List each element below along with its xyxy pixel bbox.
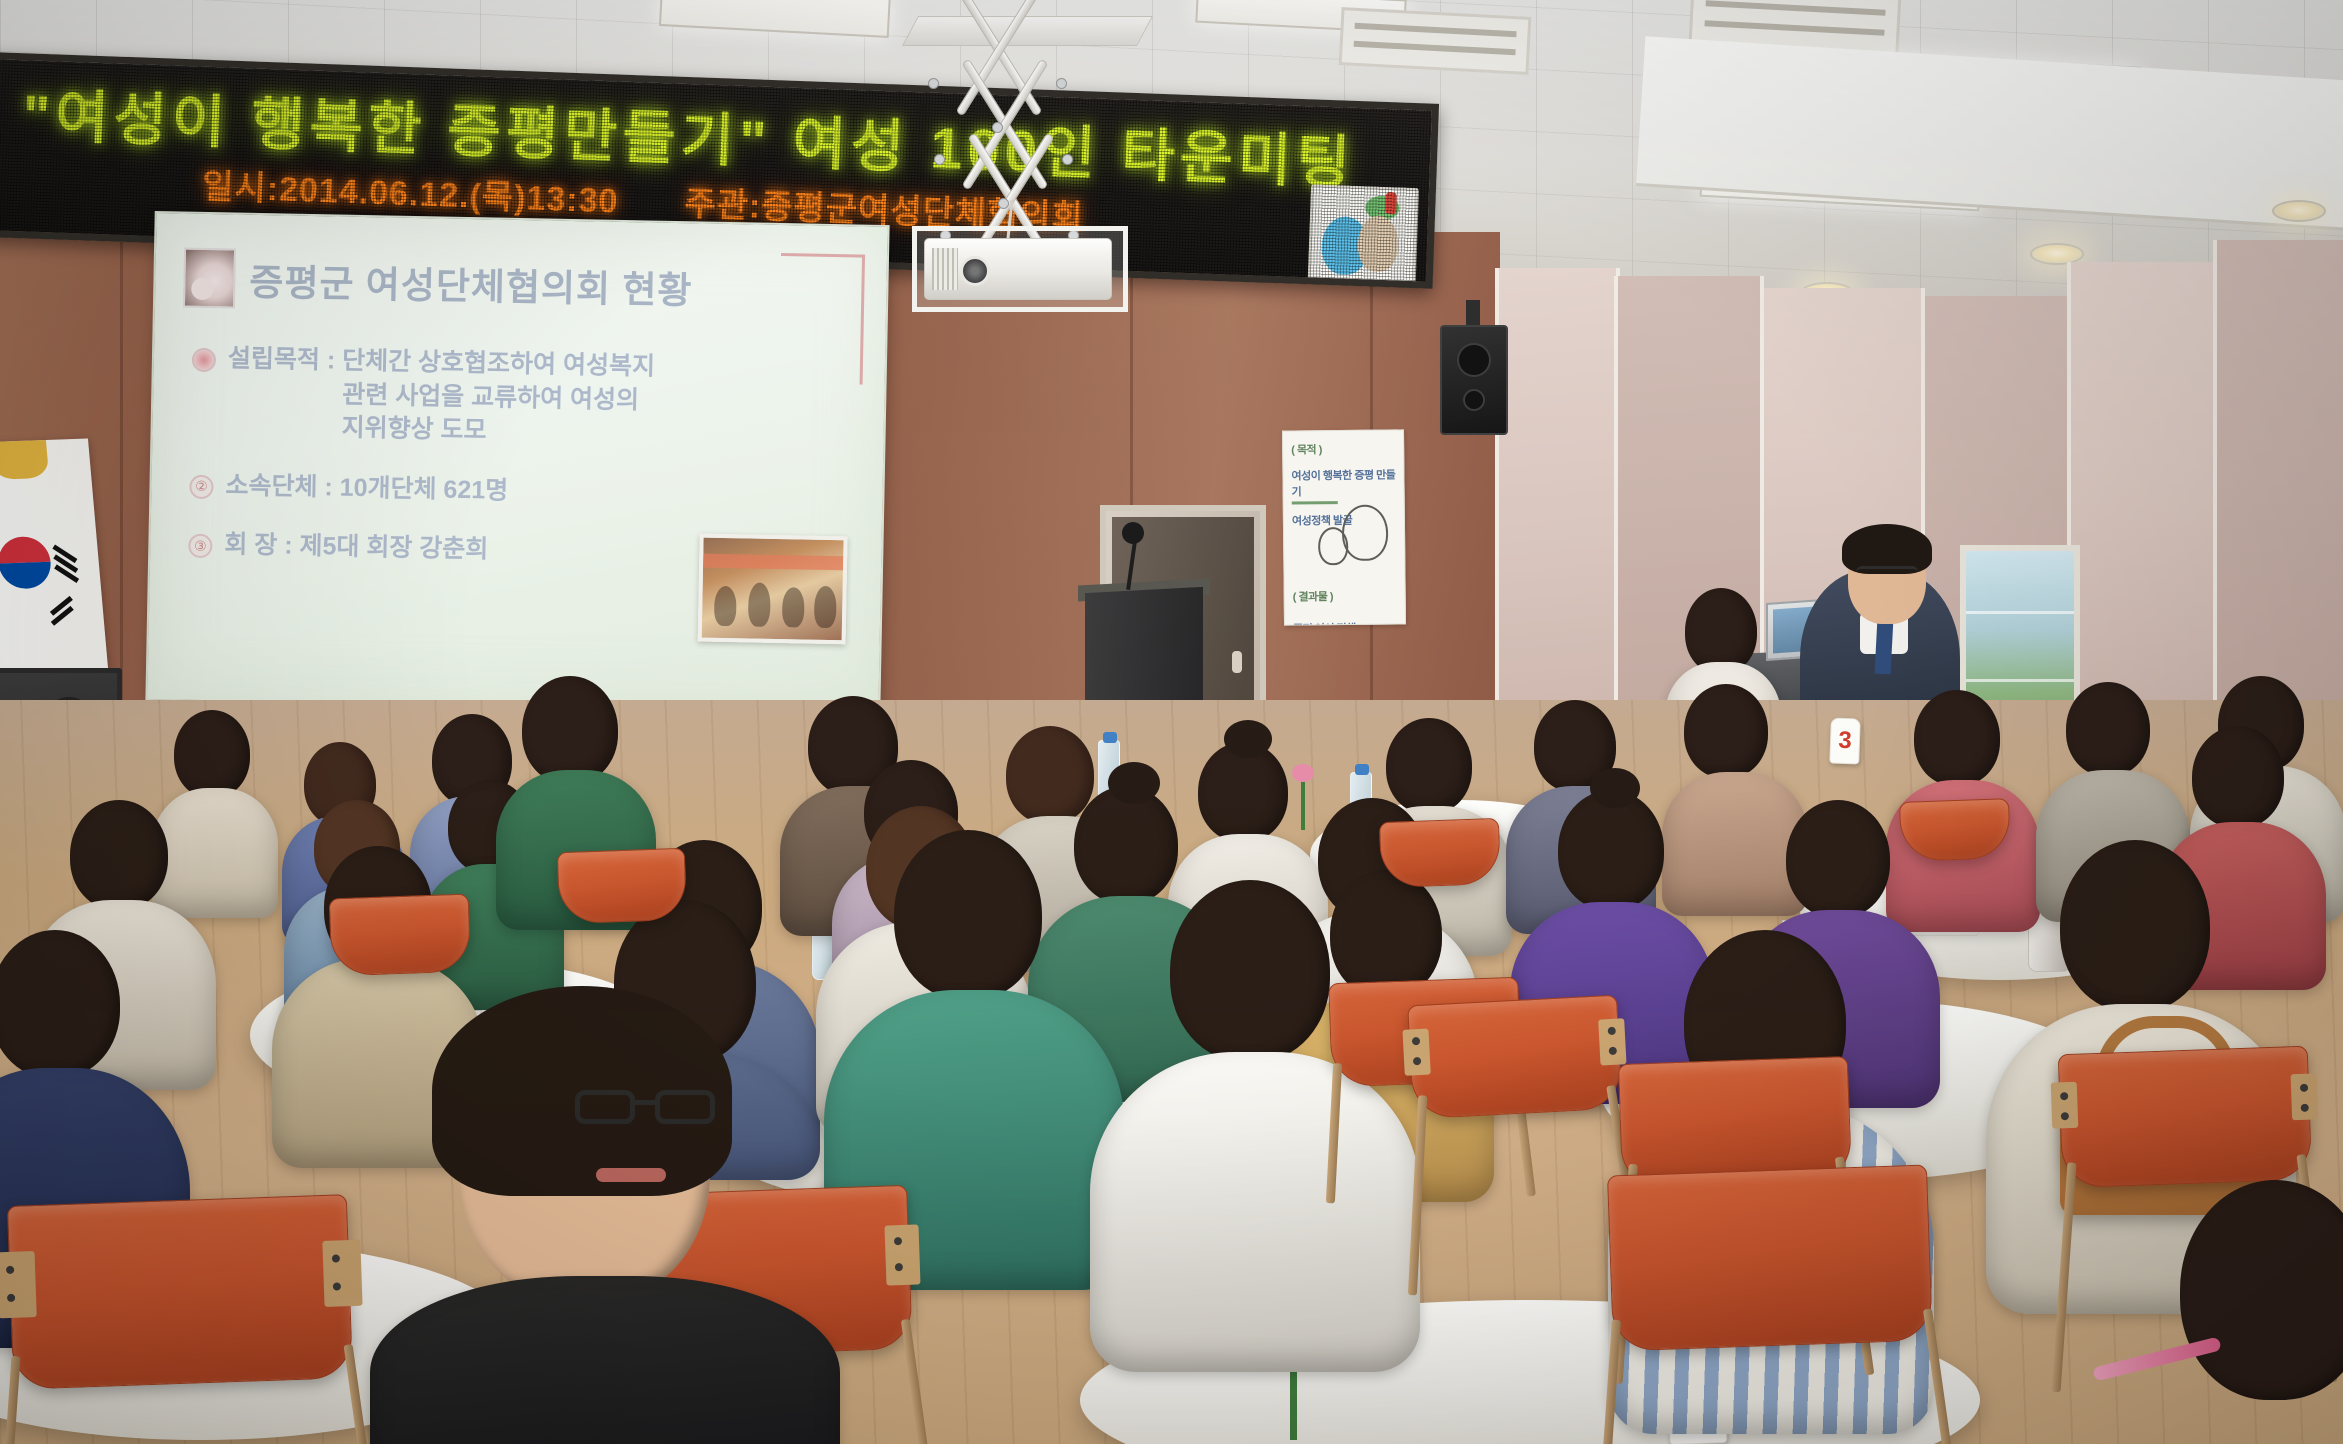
ceiling-projector-lift: [890, 0, 1190, 334]
slide-bullet-line: 설립목적 : 단체간 상호협조하여 여성복지: [228, 344, 656, 380]
slide-bullet-marker: ③: [188, 534, 212, 558]
slide-bullet-text: 설립목적 : 단체간 상호협조하여 여성복지 관련 사업을 교류하여 여성의 지…: [226, 342, 655, 451]
pa-speaker: [1440, 325, 1508, 435]
lift-ceiling-plate: [902, 16, 1153, 46]
chair[interactable]: [1379, 818, 1501, 888]
slide-bullet-item: ② 소속단체 : 10개단체 621명: [189, 468, 855, 514]
eyeglasses-icon: [575, 1090, 715, 1126]
poster-face-sketch: [1318, 527, 1348, 565]
poster-face-sketch: [1342, 505, 1389, 561]
slide-bullet-text: 회 장 : 제5대 회장 강춘희: [224, 528, 489, 567]
poster-heading: ( 결과물 ): [1293, 587, 1397, 604]
slide-decor-thumbnail: [183, 248, 236, 309]
slide-bullet-marker: [192, 348, 216, 372]
photo-scene: "여성이 행복한 증평만들기" 여성 100인 타운미팅 일시:2014.06.…: [0, 0, 2343, 1444]
chair[interactable]: [1899, 798, 2011, 862]
wall-partition-panel: [2213, 240, 2343, 720]
wall-partition-panel: [1495, 268, 1620, 748]
slide-title: 증평군 여성단체협의회 현황: [249, 252, 693, 314]
wall-poster: ( 목적 ) 여성이 행복한 증평 만들기 여성정책 발굴 ( 결과물 ) 증평…: [1282, 429, 1406, 625]
wall-partition-panel: [2067, 262, 2217, 732]
chair[interactable]: [1407, 995, 1623, 1120]
slide-bullet-marker: ②: [189, 474, 213, 498]
projector-lens: [960, 256, 990, 286]
mascot-logo: [1308, 184, 1419, 286]
eyeglasses-icon: [1856, 566, 1918, 581]
door-handle[interactable]: [1232, 651, 1242, 673]
slide-bullet-item: 설립목적 : 단체간 상호협조하여 여성복지 관련 사업을 교류하여 여성의 지…: [190, 342, 857, 455]
presenter-tie: [1875, 618, 1894, 675]
projector-vent: [932, 248, 958, 290]
microphone: [1122, 522, 1144, 544]
chair[interactable]: [329, 894, 472, 977]
poster-line: 여성이 행복한 증평 만들기: [1291, 466, 1395, 499]
speaker-mount: [1466, 300, 1480, 328]
chair[interactable]: [7, 1194, 353, 1390]
chair[interactable]: [1607, 1164, 1933, 1351]
ceiling-air-vent: [1339, 7, 1532, 75]
table-number-card: 3: [1829, 717, 1861, 764]
projection-screen: 증평군 여성단체협의회 현황 설립목적 : 단체간 상호협조하여 여성복지 관련…: [145, 211, 889, 715]
chair[interactable]: [2058, 1046, 2313, 1189]
slide-title-bracket: [779, 253, 865, 385]
slide-embedded-photo: [698, 534, 848, 645]
foreground-attendee-mouth: [596, 1168, 666, 1182]
slide-bullet-text: 소속단체 : 10개단체 621명: [225, 469, 508, 508]
poster-heading: ( 목적 ): [1291, 440, 1395, 457]
chair[interactable]: [557, 848, 687, 924]
recessed-downlight: [2272, 200, 2326, 222]
